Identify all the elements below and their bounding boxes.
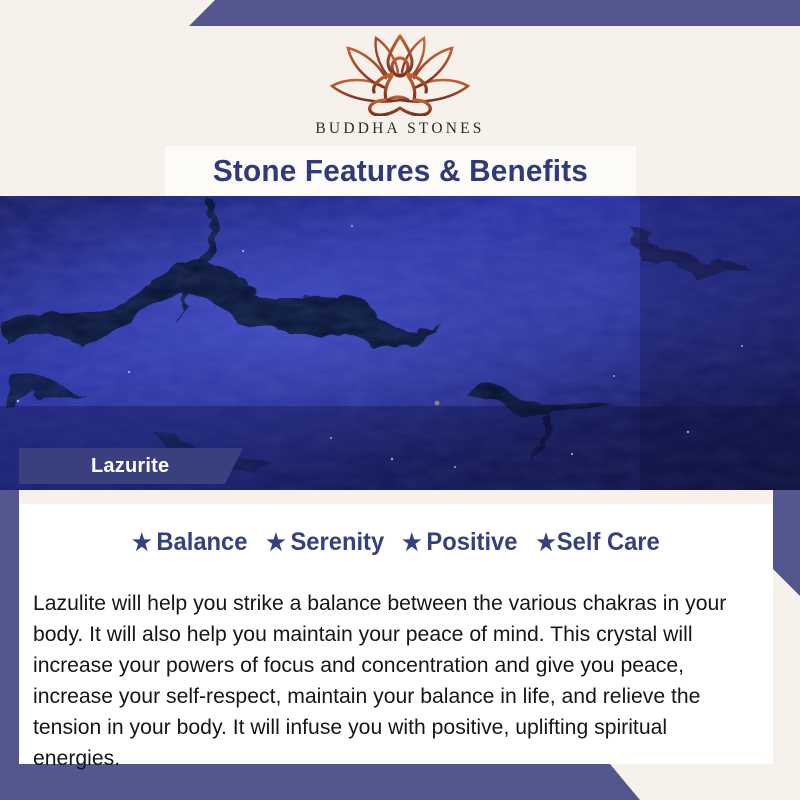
decor-band-left bbox=[0, 488, 19, 764]
brand-name: BUDDHA STONES bbox=[315, 120, 484, 138]
title-plate: Stone Features & Benefits bbox=[165, 146, 636, 196]
poster-canvas: BUDDHA STONES Stone Features & Benefits bbox=[0, 0, 800, 800]
star-icon: ★ bbox=[132, 531, 152, 554]
card-top-strip bbox=[19, 490, 773, 504]
stone-name-banner: Lazurite bbox=[19, 448, 243, 484]
feature-label: Self Care bbox=[556, 528, 659, 557]
feature-item-self-care: ★ Self Care bbox=[536, 528, 660, 557]
brand-logo: BUDDHA STONES bbox=[0, 26, 800, 138]
feature-item-serenity: ★ Serenity bbox=[266, 528, 384, 557]
stone-photo bbox=[0, 196, 800, 490]
feature-item-balance: ★ Balance bbox=[132, 528, 247, 557]
feature-list: ★ Balance ★ Serenity ★ Positive ★ Self C… bbox=[19, 528, 773, 557]
feature-item-positive: ★ Positive bbox=[402, 528, 517, 557]
feature-label: Positive bbox=[427, 528, 518, 557]
stone-name: Lazurite bbox=[91, 455, 169, 478]
decor-band-top bbox=[0, 0, 800, 26]
lotus-buddha-icon bbox=[316, 30, 484, 116]
star-icon: ★ bbox=[536, 531, 556, 554]
feature-label: Serenity bbox=[290, 528, 384, 557]
description-text: Lazulite will help you strike a balance … bbox=[33, 588, 744, 774]
star-icon: ★ bbox=[402, 531, 422, 554]
feature-label: Balance bbox=[157, 528, 248, 557]
page-title: Stone Features & Benefits bbox=[213, 153, 588, 189]
star-icon: ★ bbox=[266, 531, 286, 554]
